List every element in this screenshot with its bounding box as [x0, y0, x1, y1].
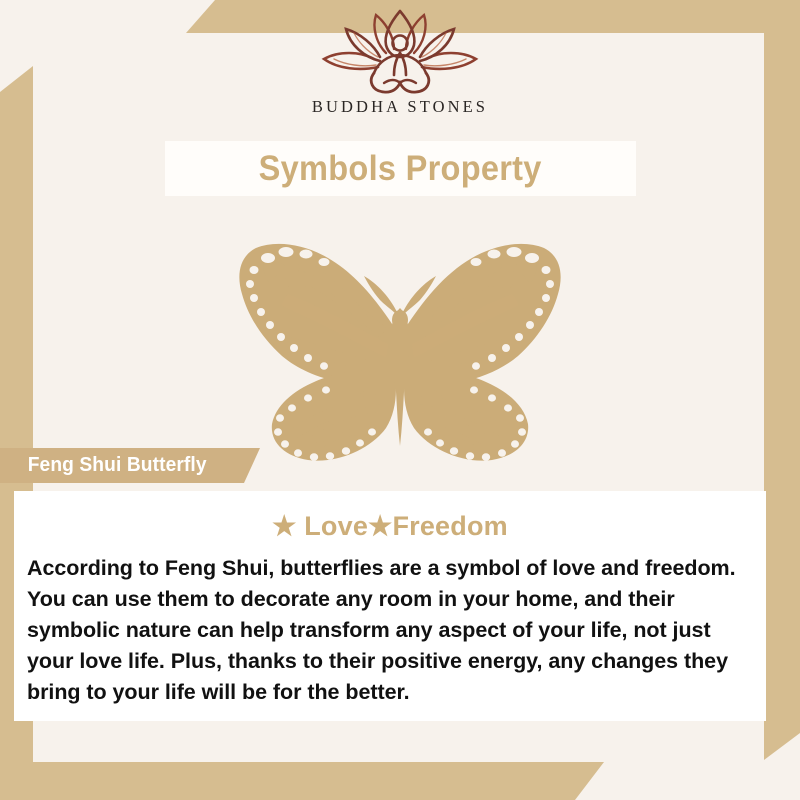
hero-illustration: [0, 232, 800, 464]
butterfly-icon: [228, 232, 572, 464]
frame-bottom-band: [0, 762, 800, 800]
article-subheading: ★ Love★Freedom: [14, 511, 766, 542]
article-paragraph: According to Feng Shui, butterflies are …: [27, 553, 753, 708]
lotus-meditation-icon: [316, 7, 484, 95]
article-panel: ★ Love★Freedom According to Feng Shui, b…: [14, 491, 766, 721]
title-banner: Symbols Property: [165, 141, 636, 196]
page-title: Symbols Property: [259, 149, 542, 189]
brand-logo: BUDDHA STONES: [0, 7, 800, 117]
symbols-property-infographic: BUDDHA STONES Symbols Property: [0, 0, 800, 800]
ribbon-label: Feng Shui Butterfly: [0, 448, 260, 483]
brand-name: BUDDHA STONES: [312, 97, 488, 117]
ribbon-label-text: Feng Shui Butterfly: [28, 454, 207, 477]
